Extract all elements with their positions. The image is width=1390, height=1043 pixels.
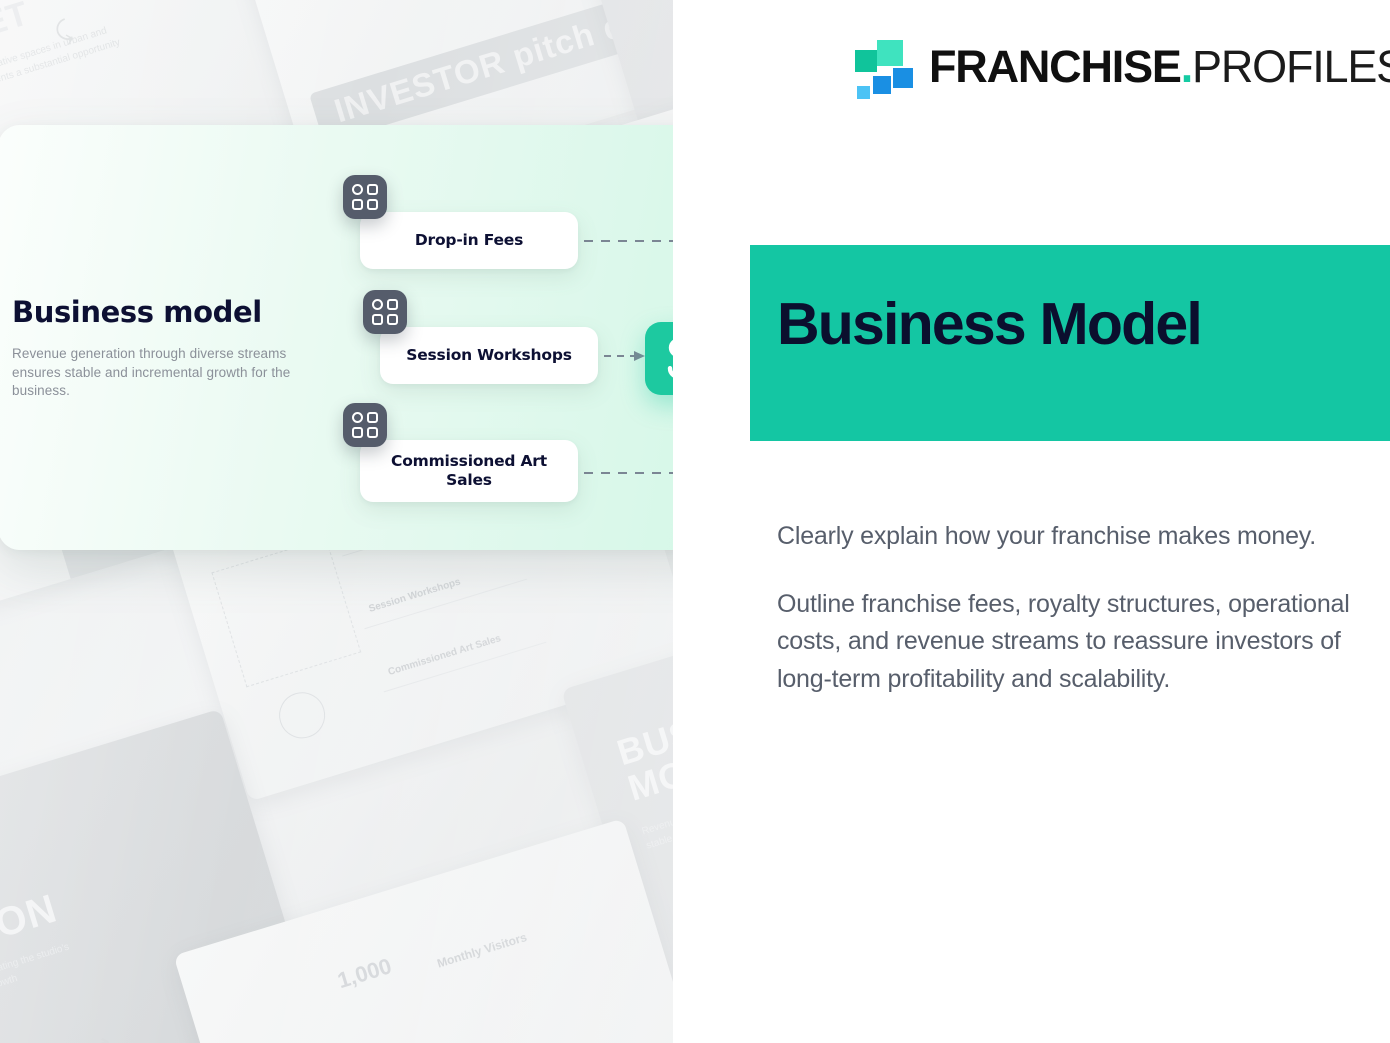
grid-icon (343, 175, 387, 219)
revenue-node-drop-in-fees[interactable]: Drop-in Fees (360, 212, 578, 269)
revenue-node-session-workshops[interactable]: Session Workshops (380, 327, 598, 384)
revenue-node-label: Drop-in Fees (415, 231, 523, 250)
ghost-metric-value: 1,000 (334, 953, 394, 994)
logo-word-profiles: PROFILES (1192, 41, 1390, 92)
logo-square-teal-light (877, 40, 903, 66)
revenue-node-label: Commissioned Art Sales (374, 452, 564, 490)
ghost-metric-label: Monthly Visitors (435, 930, 528, 971)
ghost-slide-title: BUSINESS MODEL (613, 670, 673, 807)
logo-wordmark: FRANCHISE.PROFILES (929, 44, 1390, 89)
body-paragraph-1: Clearly explain how your franchise makes… (777, 518, 1355, 556)
grid-icon (363, 290, 407, 334)
logo-square-blue-light (857, 86, 870, 99)
grid-icon (343, 403, 387, 447)
ghost-dashed-box (211, 537, 361, 687)
logo-square-blue-2 (873, 76, 891, 94)
logo-dot: . (1181, 41, 1192, 92)
ghost-arrow-icon: ⟶ (69, 1026, 114, 1043)
logo-word-franchise: FRANCHISE (929, 41, 1181, 92)
right-content-panel: FRANCHISE.PROFILES Business Model Clearl… (673, 0, 1390, 1043)
logo-square-teal (855, 50, 877, 72)
section-title-banner: Business Model (750, 245, 1390, 441)
body-paragraph-2: Outline franchise fees, royalty structur… (777, 586, 1355, 699)
revenue-node-commissioned-art-sales[interactable]: Commissioned Art Sales (360, 440, 578, 502)
ghost-label: Session Workshops (368, 576, 462, 614)
page-title: Business Model (777, 295, 1201, 354)
brand-logo[interactable]: FRANCHISE.PROFILES (855, 38, 1390, 94)
logo-mark-icon (855, 38, 911, 94)
ghost-dollar-icon (273, 687, 330, 744)
logo-square-blue (893, 68, 913, 88)
revenue-streams-diagram: Drop-in Fees Session Workshops Commissio… (0, 125, 742, 550)
ghost-label: Commissioned Art Sales (387, 633, 503, 678)
ghost-slide-sub: Significant milestones demonstrating the… (0, 930, 108, 1032)
business-model-slide-card: Business model Revenue generation throug… (0, 125, 742, 550)
revenue-node-label: Session Workshops (406, 346, 572, 365)
body-copy: Clearly explain how your franchise makes… (777, 518, 1355, 698)
